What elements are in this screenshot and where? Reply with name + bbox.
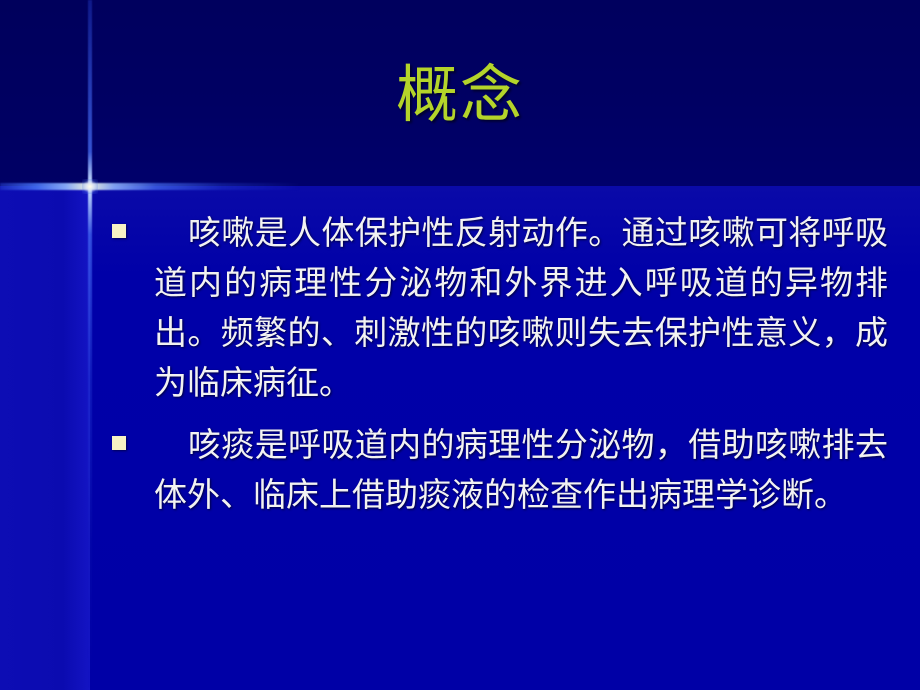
slide-background-left-strip-lower: [0, 186, 90, 690]
presentation-slide: 概念 咳嗽是人体保护性反射动作。通过咳嗽可将呼吸道内的病理性分泌物和外界进入呼吸…: [0, 0, 920, 690]
list-item-text: 咳痰是呼吸道内的病理性分泌物，借助咳嗽排去体外、临床上借助痰液的检查作出病理学诊…: [154, 420, 888, 520]
list-item-text: 咳嗽是人体保护性反射动作。通过咳嗽可将呼吸道内的病理性分泌物和外界进入呼吸道的异…: [154, 208, 888, 408]
decorative-cross-star-icon: [82, 179, 98, 194]
square-bullet-icon: [112, 436, 126, 450]
slide-title: 概念: [0, 58, 920, 132]
slide-body: 咳嗽是人体保护性反射动作。通过咳嗽可将呼吸道内的病理性分泌物和外界进入呼吸道的异…: [108, 208, 888, 532]
list-item: 咳嗽是人体保护性反射动作。通过咳嗽可将呼吸道内的病理性分泌物和外界进入呼吸道的异…: [108, 208, 888, 408]
decorative-cross-horizontal-beam: [0, 183, 300, 190]
square-bullet-icon: [112, 224, 126, 238]
list-item: 咳痰是呼吸道内的病理性分泌物，借助咳嗽排去体外、临床上借助痰液的检查作出病理学诊…: [108, 420, 888, 520]
